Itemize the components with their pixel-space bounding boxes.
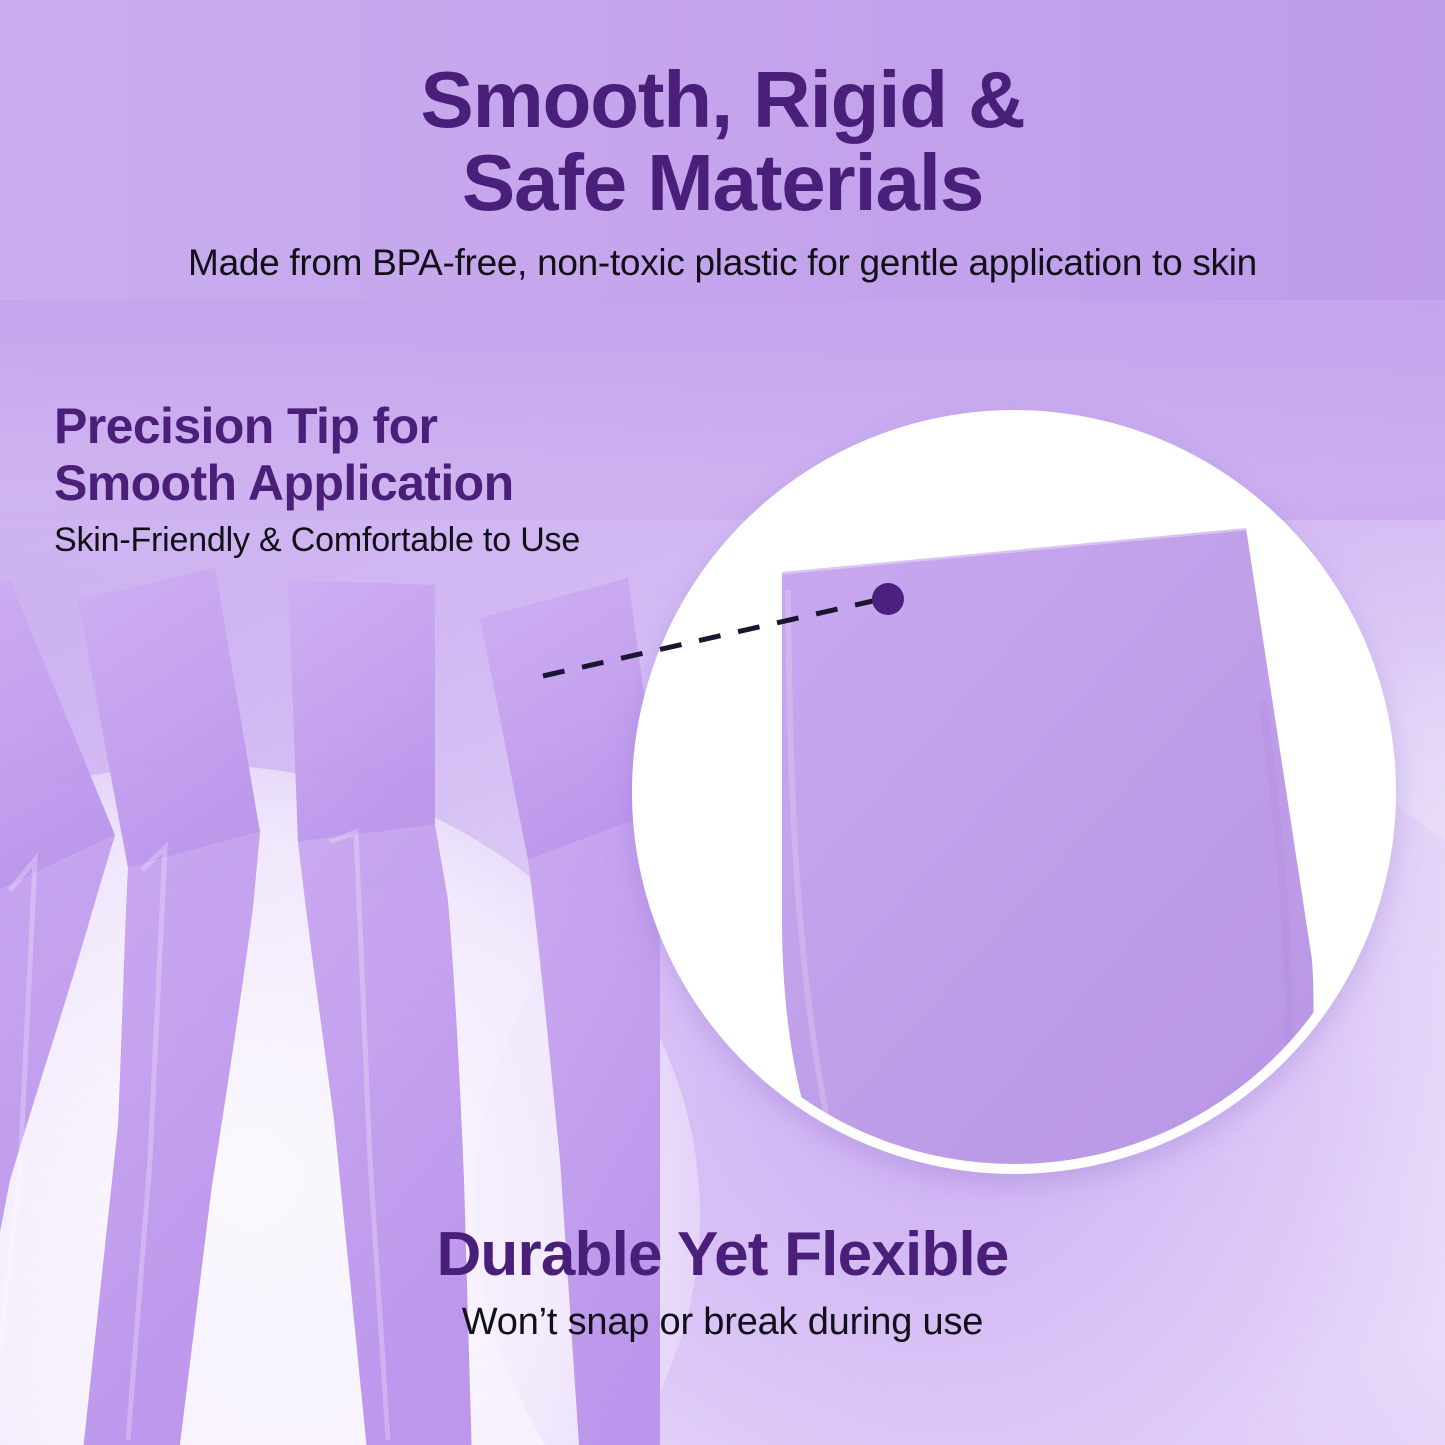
left-feature-heading-line-1: Precision Tip for bbox=[54, 398, 580, 455]
product-infographic: Smooth, Rigid & Safe Materials Made from… bbox=[0, 0, 1445, 1445]
bottom-feature-heading: Durable Yet Flexible bbox=[0, 1222, 1445, 1287]
bottom-feature-subtitle: Won’t snap or break during use bbox=[0, 1301, 1445, 1344]
title-line-1: Smooth, Rigid & bbox=[0, 58, 1445, 141]
left-feature-subtitle: Skin-Friendly & Comfortable to Use bbox=[54, 521, 580, 560]
title-subtitle: Made from BPA-free, non-toxic plastic fo… bbox=[0, 242, 1445, 284]
main-title-block: Smooth, Rigid & Safe Materials Made from… bbox=[0, 58, 1445, 284]
bottom-feature-block: Durable Yet Flexible Won’t snap or break… bbox=[0, 1222, 1445, 1344]
left-feature-block: Precision Tip for Smooth Application Ski… bbox=[54, 398, 580, 560]
magnifier-circle bbox=[622, 400, 1406, 1184]
left-feature-heading-line-2: Smooth Application bbox=[54, 455, 580, 512]
title-line-2: Safe Materials bbox=[0, 141, 1445, 224]
